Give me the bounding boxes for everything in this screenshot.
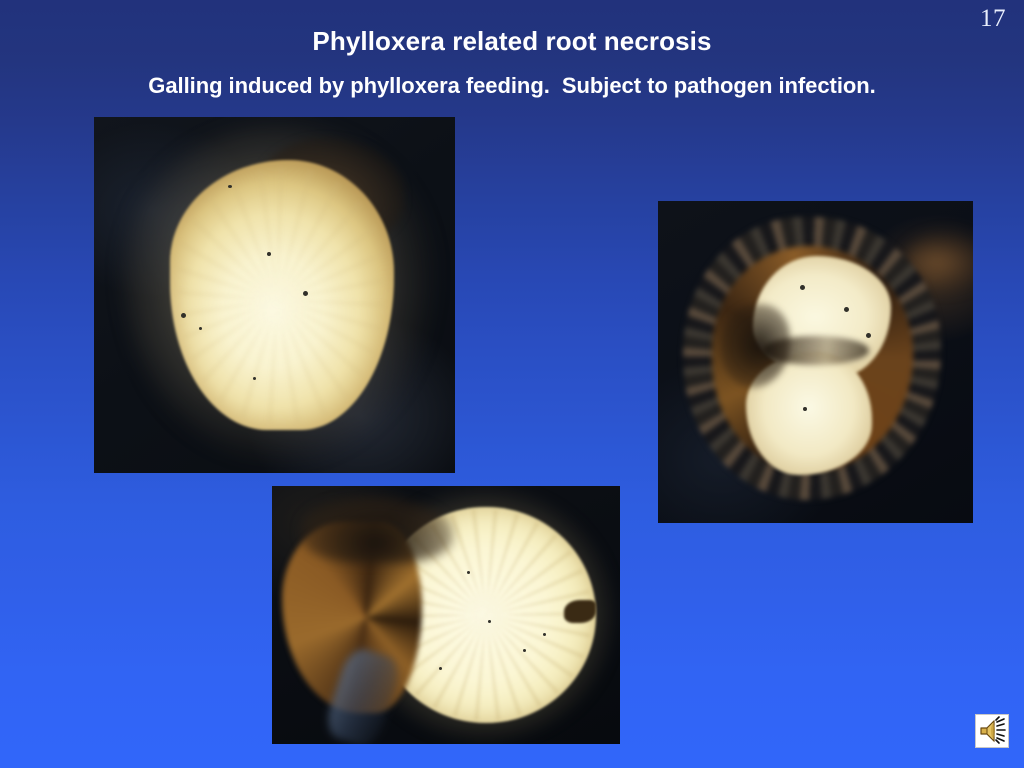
speaker-glyph <box>976 715 1008 747</box>
photo-2-speck <box>800 285 805 290</box>
sound-speaker-icon[interactable] <box>975 714 1009 748</box>
photo-3-speck <box>488 620 491 623</box>
photo-1-xylem-rays <box>177 167 386 423</box>
photo-galled-root-crusty-bark <box>658 201 973 523</box>
photo-2-speck <box>803 407 807 411</box>
photo-3-speck <box>467 571 470 574</box>
photo-root-cross-section-pale-pear <box>94 117 455 473</box>
photo-1-speck <box>228 185 232 188</box>
photo-3-speck <box>439 667 442 670</box>
photo-1-speck <box>253 377 256 380</box>
page-title: Phylloxera related root necrosis <box>0 26 1024 57</box>
page-subtitle: Galling induced by phylloxera feeding. S… <box>0 73 1024 99</box>
photo-root-section-radiating-rays <box>272 486 620 744</box>
photo-3-speck <box>523 649 526 652</box>
photo-1-speck <box>199 327 202 330</box>
photo-1-speck <box>181 313 186 318</box>
photo-3-rim-nick <box>564 600 595 623</box>
presentation-slide: 17 Phylloxera related root necrosis Gall… <box>0 0 1024 768</box>
photo-2-speck <box>866 333 871 338</box>
photo-3-dark-crust <box>300 496 453 563</box>
